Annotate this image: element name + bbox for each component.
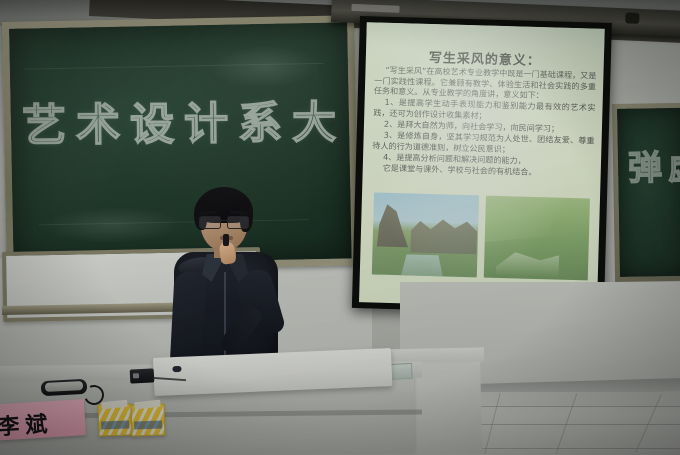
chalk-box-lid [134,400,161,410]
chalk-box-band [134,421,162,430]
lens-left [199,216,221,229]
chalkboard-left-writing: 艺术设计系大 [22,86,347,153]
classroom-lecture-photo: 艺术设计系大 弹虚 写生采风的意义： “写生采风”在高校艺术专业教学中既是一门基… [0,0,680,455]
audio-receiver[interactable] [130,368,155,383]
name-card: 李斌 [0,399,86,441]
housing-knob [625,12,639,24]
glasses-bridge [219,220,229,221]
stream-shape [401,254,443,276]
receiver-display [133,373,139,378]
green-hills-photo [483,196,590,281]
slide-top-margin [366,22,604,49]
handheld-remote [223,234,229,246]
projected-slide: 写生采风的意义： “写生采风”在高校艺术专业教学中既是一门基础课程，又是一门实践… [359,22,605,309]
presenter-figure [168,186,286,376]
chalk-box[interactable] [97,403,132,436]
housing-brand-label [351,4,399,13]
lectern-button[interactable] [172,366,181,372]
chalk-box-band [101,421,129,430]
chalkboard-right-surface [617,108,680,277]
chalk-box[interactable] [130,403,165,436]
eyeglasses-icon [199,216,249,227]
projection-screen: 写生采风的意义： “写生采风”在高校艺术专业教学中既是一门基础课程，又是一门实践… [352,16,612,315]
chalkboard-right-writing: 弹虚 [628,139,680,189]
chalk-box-lid [101,400,128,410]
name-card-text: 李斌 [0,406,54,441]
slide-photo-row [372,192,590,280]
mountain-peaks-photo [372,192,479,277]
lens-right [227,216,249,229]
chalkboard-right-frame [612,103,680,282]
slide-body: “写生采风”在高校艺术专业教学中既是一门基础课程，又是一门实践性课程。它兼顾有教… [372,64,597,179]
